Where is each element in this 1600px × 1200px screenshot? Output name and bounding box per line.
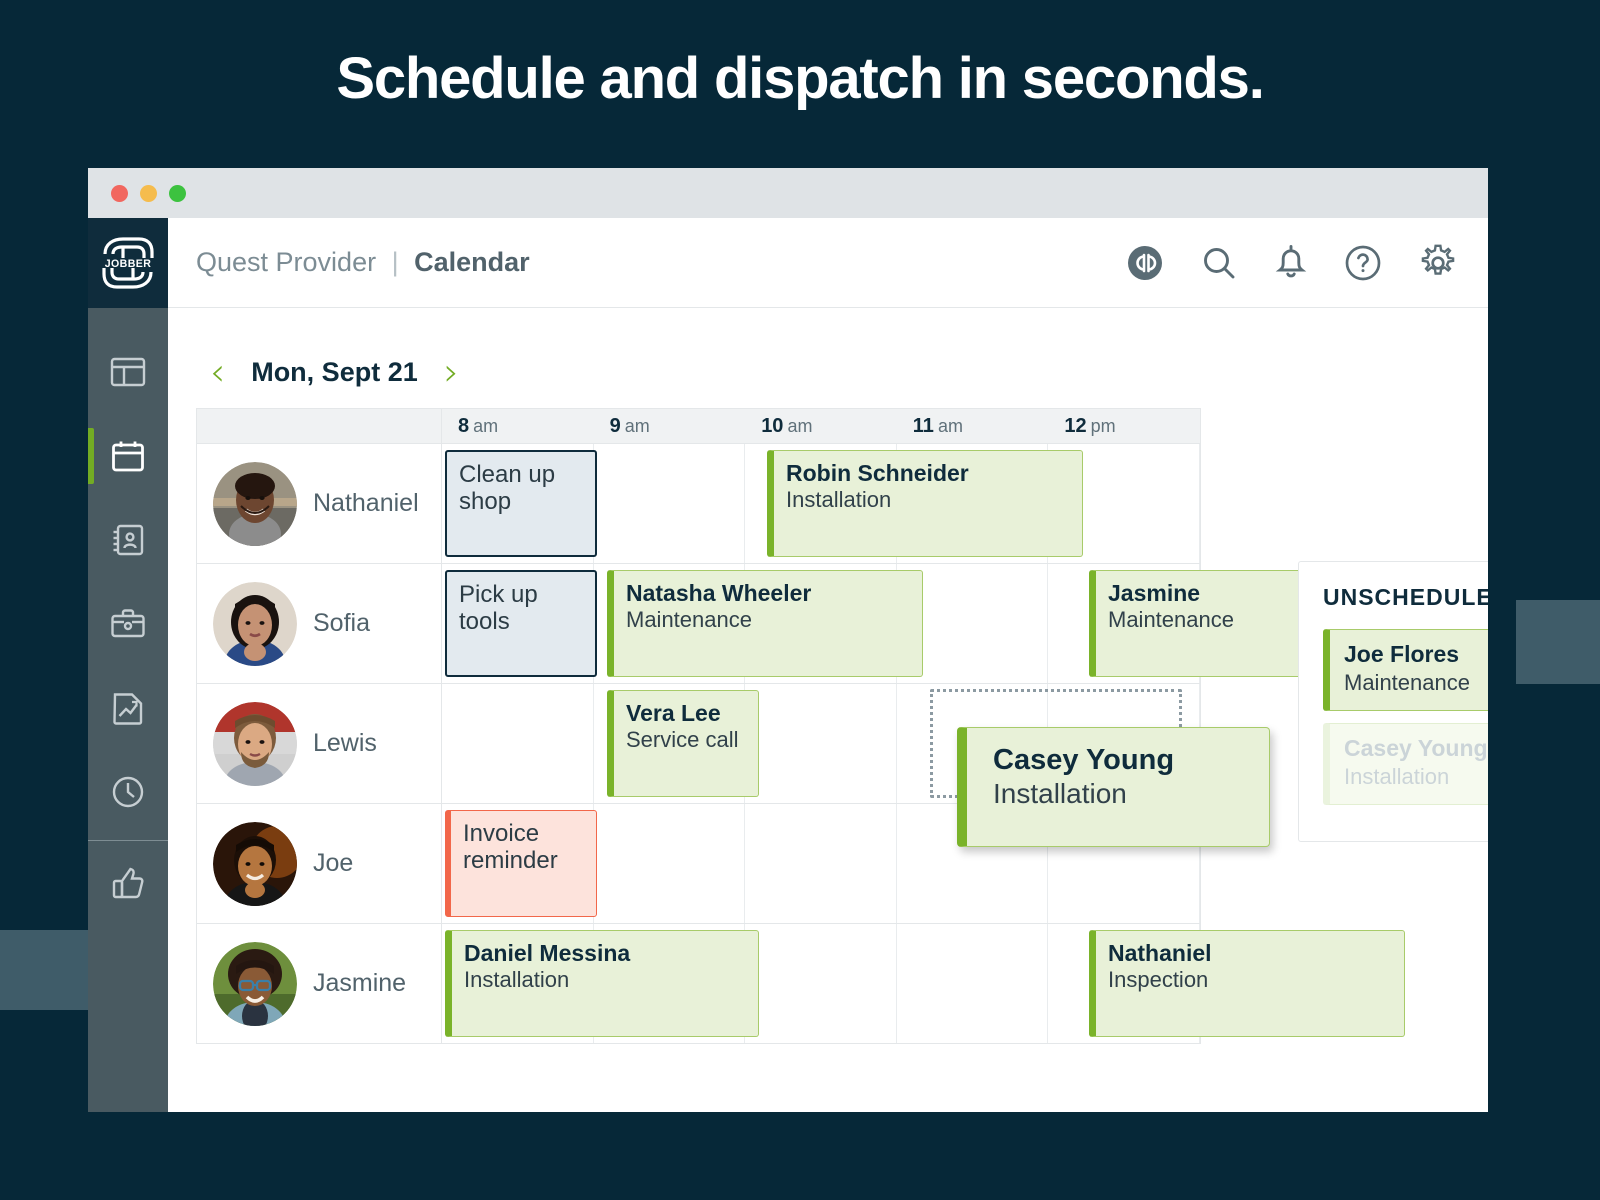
calendar-icon (111, 439, 145, 473)
date-navigator: ‹ Mon, Sept 21 › (196, 336, 1178, 408)
briefcase-icon (110, 608, 146, 640)
current-date-label: Mon, Sept 21 (251, 357, 418, 388)
time-slot[interactable] (745, 924, 897, 1043)
window-titlebar (88, 168, 1488, 218)
breadcrumb: Quest Provider | Calendar (196, 247, 530, 278)
hour-number: 9 (610, 415, 621, 438)
event-title: Daniel Messina (464, 941, 746, 967)
event-card-reminder[interactable]: Invoice reminder (445, 810, 597, 917)
jobber-logo[interactable]: JOBBER (88, 218, 168, 308)
background-accent-left (0, 930, 88, 1010)
unscheduled-card-subtitle: Maintenance (1344, 669, 1488, 697)
grid-hour-header: 8am 9am 10am 11am (197, 408, 1200, 443)
schedule-grid: 8am 9am 10am 11am (196, 408, 1201, 1044)
resource-cell[interactable]: Jasmine (197, 924, 442, 1043)
time-slot[interactable] (745, 804, 897, 923)
dashboard-icon (110, 356, 146, 388)
background-accent-right (1516, 600, 1600, 684)
hour-number: 10 (761, 415, 783, 438)
unscheduled-card-joe-flores[interactable]: Joe Flores Maintenance (1323, 629, 1488, 711)
person-name: Lewis (313, 729, 377, 758)
unscheduled-card-title: Joe Flores (1344, 641, 1488, 669)
person-name: Joe (313, 849, 353, 878)
hour-label-8am: 8am (442, 409, 594, 443)
event-card-task[interactable]: Pick up tools (445, 570, 597, 677)
event-title: Natasha Wheeler (626, 581, 910, 607)
table-row: Jasmine Daniel Messina Installat (197, 923, 1200, 1043)
unscheduled-card-title: Casey Young (1344, 735, 1488, 763)
time-slot[interactable] (745, 684, 897, 803)
avatar (213, 582, 297, 666)
event-title: Vera Lee (626, 701, 746, 727)
breadcrumb-separator: | (392, 247, 399, 277)
sidebar-item-home[interactable] (88, 330, 168, 414)
avatar (213, 702, 297, 786)
row-slots: Pick up tools Natasha Wheeler Maintenanc… (442, 564, 1200, 683)
time-slot[interactable] (594, 444, 746, 563)
help-icon[interactable] (1344, 244, 1382, 282)
person-name: Sofia (313, 609, 370, 638)
hour-suffix: am (625, 416, 650, 437)
svg-text:JOBBER: JOBBER (105, 258, 152, 270)
grid-header-spacer (197, 409, 442, 443)
event-subtitle: Maintenance (626, 607, 910, 633)
bell-icon[interactable] (1274, 244, 1308, 282)
table-row: Nathaniel Clean up shop (197, 443, 1200, 563)
unscheduled-card-casey-young[interactable]: Casey Young Installation (1323, 723, 1488, 805)
table-row: Sofia Pick up tools (197, 563, 1200, 683)
hour-label-10am: 10am (745, 409, 897, 443)
unscheduled-panel: UNSCHEDULED Joe Flores Maintenance Casey… (1298, 561, 1488, 842)
unscheduled-card-subtitle: Installation (1344, 763, 1488, 791)
report-chart-icon (112, 691, 144, 725)
avatar (213, 942, 297, 1026)
page-headline: Schedule and dispatch in seconds. (0, 45, 1600, 112)
resource-cell[interactable]: Lewis (197, 684, 442, 803)
row-slots: Daniel Messina Installation Nathaniel In… (442, 924, 1200, 1043)
hour-label-11am: 11am (897, 409, 1049, 443)
person-name: Nathaniel (313, 489, 419, 518)
hour-label-12pm: 12pm (1048, 409, 1200, 443)
hour-suffix: pm (1091, 416, 1116, 437)
gear-icon[interactable] (1418, 243, 1458, 283)
previous-day-button[interactable]: ‹ (210, 353, 225, 391)
time-slot[interactable] (442, 684, 594, 803)
unscheduled-heading: UNSCHEDULED (1323, 584, 1488, 611)
sidebar-rail: JOBBER (88, 218, 168, 1112)
next-day-button[interactable]: › (444, 353, 459, 391)
event-title: Robin Schneider (786, 461, 1070, 487)
event-subtitle: Installation (464, 967, 746, 993)
row-slots: Clean up shop Robin Schneider Installati… (442, 444, 1200, 563)
hour-number: 12 (1064, 415, 1086, 438)
event-subtitle: Installation (786, 487, 1070, 513)
event-card-task[interactable]: Clean up shop (445, 450, 597, 557)
event-subtitle: Service call (626, 727, 746, 753)
app-topbar: Quest Provider | Calendar (168, 218, 1488, 308)
close-window-button[interactable] (111, 185, 128, 202)
event-card-visit[interactable]: Daniel Messina Installation (445, 930, 759, 1037)
dragged-event-title: Casey Young (993, 744, 1269, 777)
event-title: Clean up shop (459, 462, 583, 516)
sidebar-item-clients[interactable] (88, 498, 168, 582)
event-card-visit[interactable]: Nathaniel Inspection (1089, 930, 1405, 1037)
resource-cell[interactable]: Sofia (197, 564, 442, 683)
app-body: JOBBER (88, 218, 1488, 1112)
maximize-window-button[interactable] (169, 185, 186, 202)
avatar (213, 822, 297, 906)
event-title: Pick up tools (459, 582, 583, 636)
hour-label-9am: 9am (594, 409, 746, 443)
resource-cell[interactable]: Joe (197, 804, 442, 923)
resource-cell[interactable]: Nathaniel (197, 444, 442, 563)
sidebar-item-reports[interactable] (88, 666, 168, 750)
sidebar-item-schedule[interactable] (88, 414, 168, 498)
calendar-content: ‹ Mon, Sept 21 › 8am 9am (168, 308, 1488, 1112)
sidebar-items (88, 308, 168, 925)
dragged-event-card[interactable]: Casey Young Installation (957, 727, 1270, 847)
hour-number: 11 (913, 415, 934, 438)
hour-number: 8 (458, 415, 469, 438)
main-panel: Quest Provider | Calendar (168, 218, 1488, 1112)
event-card-visit[interactable]: Natasha Wheeler Maintenance (607, 570, 923, 677)
hour-suffix: am (938, 416, 963, 437)
minimize-window-button[interactable] (140, 185, 157, 202)
calendar-wrapper: ‹ Mon, Sept 21 › 8am 9am (168, 308, 1178, 1112)
dragged-event-subtitle: Installation (993, 777, 1269, 811)
hour-suffix: am (787, 416, 812, 437)
thumbs-up-icon (111, 866, 145, 900)
person-name: Jasmine (313, 969, 406, 998)
sidebar-item-jobs[interactable] (88, 582, 168, 666)
contact-book-icon (111, 523, 145, 557)
event-title: Invoice reminder (463, 821, 584, 875)
avatar (213, 462, 297, 546)
quickbooks-icon[interactable] (1126, 244, 1164, 282)
browser-window: JOBBER (88, 168, 1488, 1112)
event-title: Nathaniel (1108, 941, 1392, 967)
topbar-actions (1126, 243, 1458, 283)
event-card-visit[interactable]: Robin Schneider Installation (767, 450, 1083, 557)
company-name: Quest Provider (196, 247, 376, 277)
sidebar-item-timesheets[interactable] (88, 750, 168, 834)
hour-suffix: am (473, 416, 498, 437)
time-slot[interactable] (594, 804, 746, 923)
clock-icon (111, 775, 145, 809)
search-icon[interactable] (1200, 244, 1238, 282)
jobber-logo-icon: JOBBER (98, 233, 158, 293)
event-card-visit[interactable]: Vera Lee Service call (607, 690, 759, 797)
event-subtitle: Inspection (1108, 967, 1392, 993)
page-title: Calendar (414, 247, 530, 277)
sidebar-item-feedback[interactable] (88, 841, 168, 925)
time-slot[interactable] (897, 924, 1049, 1043)
